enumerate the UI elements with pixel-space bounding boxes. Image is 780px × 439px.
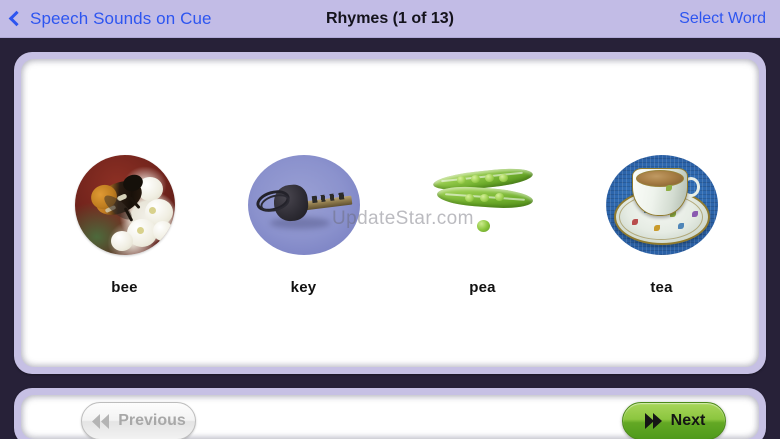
previous-button[interactable]: Previous	[81, 402, 196, 439]
pea-image[interactable]	[427, 155, 539, 255]
word-item-bee[interactable]: bee	[45, 77, 205, 296]
flower-petal	[153, 221, 173, 241]
pea-photo	[427, 155, 539, 255]
double-right-arrow-icon	[643, 413, 664, 429]
floral-pattern	[692, 211, 698, 217]
content-card-inner: bee key	[21, 59, 759, 367]
bee-image[interactable]	[69, 155, 181, 255]
word-item-tea[interactable]: tea	[582, 77, 742, 296]
next-button-label: Next	[671, 413, 706, 429]
tea-liquid	[636, 170, 684, 187]
word-label-bee: bee	[111, 279, 137, 296]
pea-seed	[471, 175, 480, 183]
word-item-key[interactable]: key	[224, 77, 384, 296]
pea-seed	[457, 176, 466, 184]
navigation-bar: Speech Sounds on Cue Rhymes (1 of 13) Se…	[0, 0, 780, 38]
double-left-arrow-icon	[91, 414, 111, 429]
tea-image[interactable]	[606, 155, 718, 255]
pea-seed	[480, 194, 489, 202]
pea-seed	[485, 174, 494, 182]
word-label-tea: tea	[650, 279, 672, 296]
footer-card-inner: Previous Next	[21, 395, 759, 439]
word-grid: bee key	[35, 77, 751, 342]
floral-pattern	[632, 219, 638, 225]
previous-button-label: Previous	[118, 413, 186, 429]
select-word-button[interactable]: Select Word	[679, 10, 766, 28]
pea-seed	[495, 193, 504, 201]
pea-seed	[499, 174, 508, 182]
footer-card: Previous Next	[14, 388, 766, 439]
bee-photo	[75, 155, 175, 255]
flower-center	[149, 207, 156, 214]
app-screen: Speech Sounds on Cue Rhymes (1 of 13) Se…	[0, 0, 780, 439]
single-pea	[477, 220, 490, 232]
pea-seed	[465, 194, 474, 202]
floral-pattern	[666, 185, 672, 191]
content-card: bee key	[14, 52, 766, 374]
chevron-left-icon	[9, 11, 25, 27]
back-button-label: Speech Sounds on Cue	[30, 9, 212, 29]
flower-petal	[111, 231, 133, 251]
word-label-pea: pea	[469, 279, 495, 296]
key-image[interactable]	[248, 155, 360, 255]
word-label-key: key	[291, 279, 317, 296]
floral-pattern	[678, 223, 684, 229]
key-photo	[248, 155, 360, 255]
flower-center	[137, 227, 144, 234]
word-item-pea[interactable]: pea	[403, 77, 563, 296]
next-button[interactable]: Next	[622, 402, 726, 439]
tea-photo	[606, 155, 718, 255]
back-button[interactable]: Speech Sounds on Cue	[8, 9, 212, 29]
floral-pattern	[654, 225, 660, 231]
